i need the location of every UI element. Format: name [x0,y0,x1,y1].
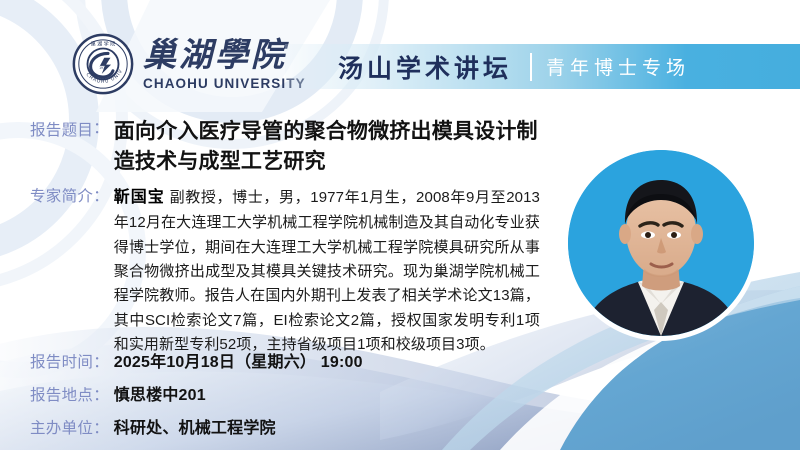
lecture-time-value: 2025年10月18日（星期六） 19:00 [114,348,363,372]
speaker-bio-label: 专家简介 [30,185,93,208]
lecture-title-value: 面向介入医疗导管的聚合物微挤出模具设计制造技术与成型工艺研究 [114,117,550,177]
banner-divider [530,53,532,81]
lecture-place-row: 报告地点 ： 慎思楼中201 [30,381,206,407]
lecture-title-label: 报告题目 [30,117,93,142]
university-name: 巢湖學院 CHAOHU UNIVERSITY [143,38,306,91]
lecture-host-value: 科研处、机械工程学院 [114,414,276,438]
speaker-bio-colon: ： [93,185,114,208]
university-name-cn: 巢湖學院 [143,38,306,71]
lecture-host-row: 主办单位 ： 科研处、机械工程学院 [30,414,276,440]
lecture-host-label: 主办单位 [30,417,93,440]
banner-title: 汤山学术讲坛 [338,49,512,85]
speaker-bio-text: 靳国宝 副教授，博士，男，1977年1月生，2008年9月至2013年12月在大… [114,185,540,358]
chaohu-university-seal-icon: 巢 湖 学 院 1977 CHAOHU UNIVERSITY [72,33,134,95]
speaker-portrait-image [568,150,754,336]
lecture-series-banner: 汤山学术讲坛 青年博士专场 [285,44,800,89]
lecture-time-label: 报告时间 [30,351,93,374]
lecture-title-colon: ： [93,117,114,140]
lecture-place-label: 报告地点 [30,384,93,407]
lecture-host-colon: ： [93,417,114,440]
speaker-name: 靳国宝 [114,189,165,206]
lecture-place-colon: ： [93,384,114,407]
lecture-place-value: 慎思楼中201 [114,381,206,405]
speaker-portrait [568,150,754,336]
lecture-poster: 巢 湖 学 院 1977 CHAOHU UNIVERSITY 巢湖學院 CHAO… [0,0,800,450]
lecture-time-row: 报告时间 ： 2025年10月18日（星期六） 19:00 [30,348,363,374]
speaker-bio-row: 专家简介 ： 靳国宝 副教授，博士，男，1977年1月生，2008年9月至201… [30,185,540,358]
university-name-en: CHAOHU UNIVERSITY [143,77,306,91]
lecture-time-colon: ： [93,351,114,374]
banner-subtitle: 青年博士专场 [546,53,690,80]
poster-header: 巢 湖 学 院 1977 CHAOHU UNIVERSITY 巢湖學院 CHAO… [0,0,800,110]
svg-text:巢 湖 学 院: 巢 湖 学 院 [91,40,116,47]
university-logo: 巢 湖 学 院 1977 CHAOHU UNIVERSITY 巢湖學院 CHAO… [72,33,306,95]
lecture-title-row: 报告题目 ： 面向介入医疗导管的聚合物微挤出模具设计制造技术与成型工艺研究 [30,117,550,177]
speaker-bio-detail: 副教授，博士，男，1977年1月生，2008年9月至2013年12月在大连理工大… [114,189,540,353]
svg-text:1977: 1977 [99,66,107,70]
